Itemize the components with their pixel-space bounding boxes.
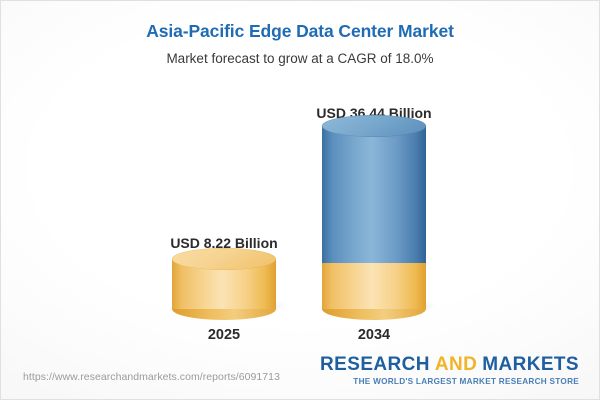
infographic-canvas: Asia-Pacific Edge Data Center Market Mar… (0, 0, 600, 400)
footer: https://www.researchandmarkets.com/repor… (1, 349, 599, 399)
logo-wordmark: RESEARCHANDMARKETS (320, 354, 579, 375)
logo-word-research: RESEARCH (320, 354, 430, 375)
bar-base-segment-2034 (322, 263, 426, 309)
axis-category-label-2034: 2034 (274, 327, 474, 343)
bar-cylinder-2025[interactable] (172, 259, 276, 309)
logo-tagline: THE WORLD'S LARGEST MARKET RESEARCH STOR… (320, 376, 579, 387)
source-url-link[interactable]: https://www.researchandmarkets.com/repor… (23, 371, 280, 383)
chart-plot-area: USD 8.22 Billion 2025 USD 36.44 Billion … (1, 1, 600, 400)
logo-word-markets: MARKETS (482, 354, 579, 375)
bar-top-ellipse-2034 (322, 115, 426, 137)
logo-word-and: AND (435, 354, 477, 375)
bar-body-2034 (322, 126, 426, 263)
bar-top-ellipse-2025 (172, 248, 276, 270)
brand-logo[interactable]: RESEARCHANDMARKETS THE WORLD'S LARGEST M… (320, 354, 579, 387)
bar-cylinder-2034[interactable] (322, 126, 426, 309)
